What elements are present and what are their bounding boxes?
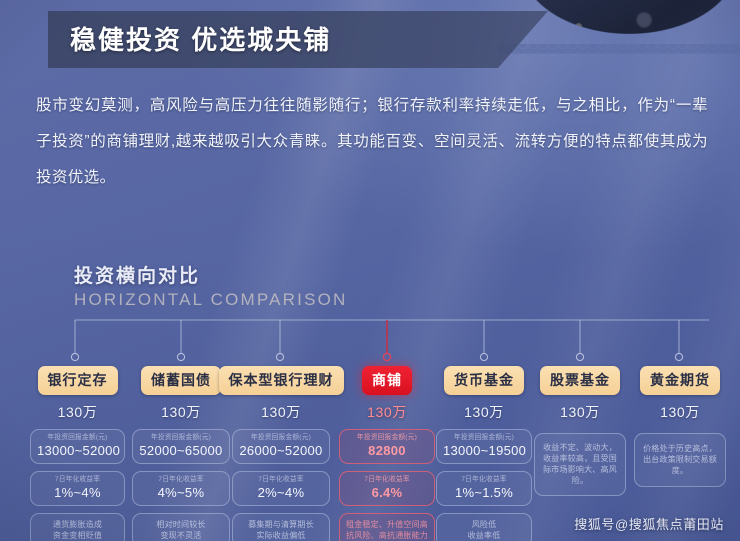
column-annual-return-box: 年投资回报金额(元) 82800 [339, 429, 435, 464]
intro-paragraph: 股市变幻莫测，高风险与高压力往往随影随行；银行存款利率持续走低，与之相比，作为“… [36, 88, 708, 196]
column-yield-box: 7日年化收益率 2%~4% [232, 471, 330, 506]
column-note-box: 相对时间较长变现不灵活 [132, 513, 230, 541]
comparison-columns: 银行定存 130万 年投资回报金额(元) 13000~52000 7日年化收益率… [0, 366, 740, 526]
column-title-chip: 保本型银行理财 [219, 366, 344, 395]
yield-label: 7日年化收益率 [241, 475, 322, 485]
yield-label: 7日年化收益率 [141, 475, 222, 485]
column-title-chip: 商铺 [362, 366, 412, 395]
yield-label: 7日年化收益率 [445, 475, 524, 485]
column-amount: 130万 [560, 402, 600, 422]
column-amount: 130万 [660, 402, 700, 422]
column-amount: 130万 [464, 402, 504, 422]
headline-title: 稳健投资 优选城央铺 [70, 20, 331, 57]
annual-return-label: 年投资回报金额(元) [39, 433, 117, 443]
connector-drop-7 [675, 320, 682, 361]
aerial-photo-scalloped-edge [498, 44, 740, 54]
annual-return-value: 13000~52000 [37, 443, 118, 459]
column-note-box: 通货膨胀造成资金变相贬值 [30, 513, 125, 541]
column-note-text: 通货膨胀造成资金变相贬值 [53, 519, 102, 541]
aerial-photo-image [498, 0, 740, 64]
connector-drop-2 [177, 320, 184, 361]
column-title-chip: 股票基金 [540, 366, 620, 395]
column-amount: 130万 [261, 402, 301, 422]
column-note-box: 风险低收益率低 [436, 513, 532, 541]
watermark: 搜狐号@搜狐焦点莆田站 [574, 514, 724, 533]
connector-drop-4-highlight [383, 320, 390, 361]
annual-return-value: 52000~65000 [139, 443, 223, 459]
poster-canvas: 稳健投资 优选城央铺 股市变幻莫测，高风险与高压力往往随影随行；银行存款利率持续… [0, 0, 740, 541]
annual-return-label: 年投资回报金额(元) [348, 433, 427, 443]
column-title-chip: 黄金期货 [640, 366, 720, 395]
yield-value: 4%~5% [139, 485, 223, 501]
column-amount: 130万 [58, 402, 98, 422]
column-note-text: 风险低收益率低 [468, 519, 501, 541]
column-yield-box: 7日年化收益率 1%~4% [30, 471, 125, 506]
column-note-text: 收益不定、波动大，收益率较高，且受国际市场影响大、高风险。 [543, 442, 617, 486]
column-note-text: 相对时间较长变现不灵活 [156, 519, 205, 541]
connector-drop-3 [276, 320, 283, 361]
column-title-chip: 银行定存 [38, 366, 118, 395]
column-note-box: 募集期与清算期长实际收益偏低 [232, 513, 330, 541]
annual-return-value: 82800 [346, 443, 428, 459]
comparison-column-principal-protected[interactable]: 保本型银行理财 130万 年投资回报金额(元) 26000~52000 7日年化… [232, 366, 330, 541]
annual-return-label: 年投资回报金额(元) [445, 433, 524, 443]
column-note-box: 收益不定、波动大，收益率较高，且受国际市场影响大、高风险。 [534, 433, 626, 496]
section-title-en: HORIZONTAL COMPARISON [74, 290, 348, 310]
column-title-chip: 储蓄国债 [141, 366, 221, 395]
comparison-column-stock-fund[interactable]: 股票基金 130万 收益不定、波动大，收益率较高，且受国际市场影响大、高风险。 [534, 366, 626, 496]
column-annual-return-box: 年投资回报金额(元) 26000~52000 [232, 429, 330, 464]
column-amount: 130万 [367, 402, 407, 422]
column-yield-box: 7日年化收益率 6.4% [339, 471, 435, 506]
column-note-box: 租金稳定、升值空间高抗风险、高抗通胀能力 [339, 513, 435, 541]
annual-return-label: 年投资回报金额(元) [141, 433, 222, 443]
connector-drop-1 [71, 320, 78, 361]
connector-drop-6 [576, 320, 583, 361]
yield-value: 1%~1.5% [443, 485, 525, 501]
section-title-cn: 投资横向对比 [74, 261, 200, 288]
yield-value: 2%~4% [239, 485, 323, 501]
column-annual-return-box: 年投资回报金额(元) 52000~65000 [132, 429, 230, 464]
column-annual-return-box: 年投资回报金额(元) 13000~52000 [30, 429, 125, 464]
column-note-text: 募集期与清算期长实际收益偏低 [248, 519, 314, 541]
column-title-chip: 货币基金 [444, 366, 524, 395]
column-amount: 130万 [161, 402, 201, 422]
column-note-text: 租金稳定、升值空间高抗风险、高抗通胀能力 [346, 519, 428, 541]
yield-value: 1%~4% [37, 485, 118, 501]
comparison-column-bank-deposit[interactable]: 银行定存 130万 年投资回报金额(元) 13000~52000 7日年化收益率… [30, 366, 125, 541]
column-yield-box: 7日年化收益率 4%~5% [132, 471, 230, 506]
annual-return-value: 26000~52000 [239, 443, 323, 459]
column-note-text: 价格处于历史高点，出台政策限制交易额度。 [643, 443, 717, 476]
column-annual-return-box: 年投资回报金额(元) 13000~19500 [436, 429, 532, 464]
connector-drop-5 [480, 320, 487, 361]
column-note-box: 价格处于历史高点，出台政策限制交易额度。 [634, 433, 726, 487]
comparison-column-gold-futures[interactable]: 黄金期货 130万 价格处于历史高点，出台政策限制交易额度。 [634, 366, 726, 487]
comparison-column-shop-highlighted[interactable]: 商铺 130万 年投资回报金额(元) 82800 7日年化收益率 6.4% 租金… [339, 366, 435, 541]
aerial-photo [498, 0, 740, 64]
annual-return-value: 13000~19500 [443, 443, 525, 459]
comparison-column-money-fund[interactable]: 货币基金 130万 年投资回报金额(元) 13000~19500 7日年化收益率… [436, 366, 532, 541]
yield-label: 7日年化收益率 [39, 475, 117, 485]
yield-value: 6.4% [346, 485, 428, 501]
column-yield-box: 7日年化收益率 1%~1.5% [436, 471, 532, 506]
yield-label: 7日年化收益率 [348, 475, 427, 485]
comparison-column-savings-bond[interactable]: 储蓄国债 130万 年投资回报金额(元) 52000~65000 7日年化收益率… [132, 366, 230, 541]
annual-return-label: 年投资回报金额(元) [241, 433, 322, 443]
